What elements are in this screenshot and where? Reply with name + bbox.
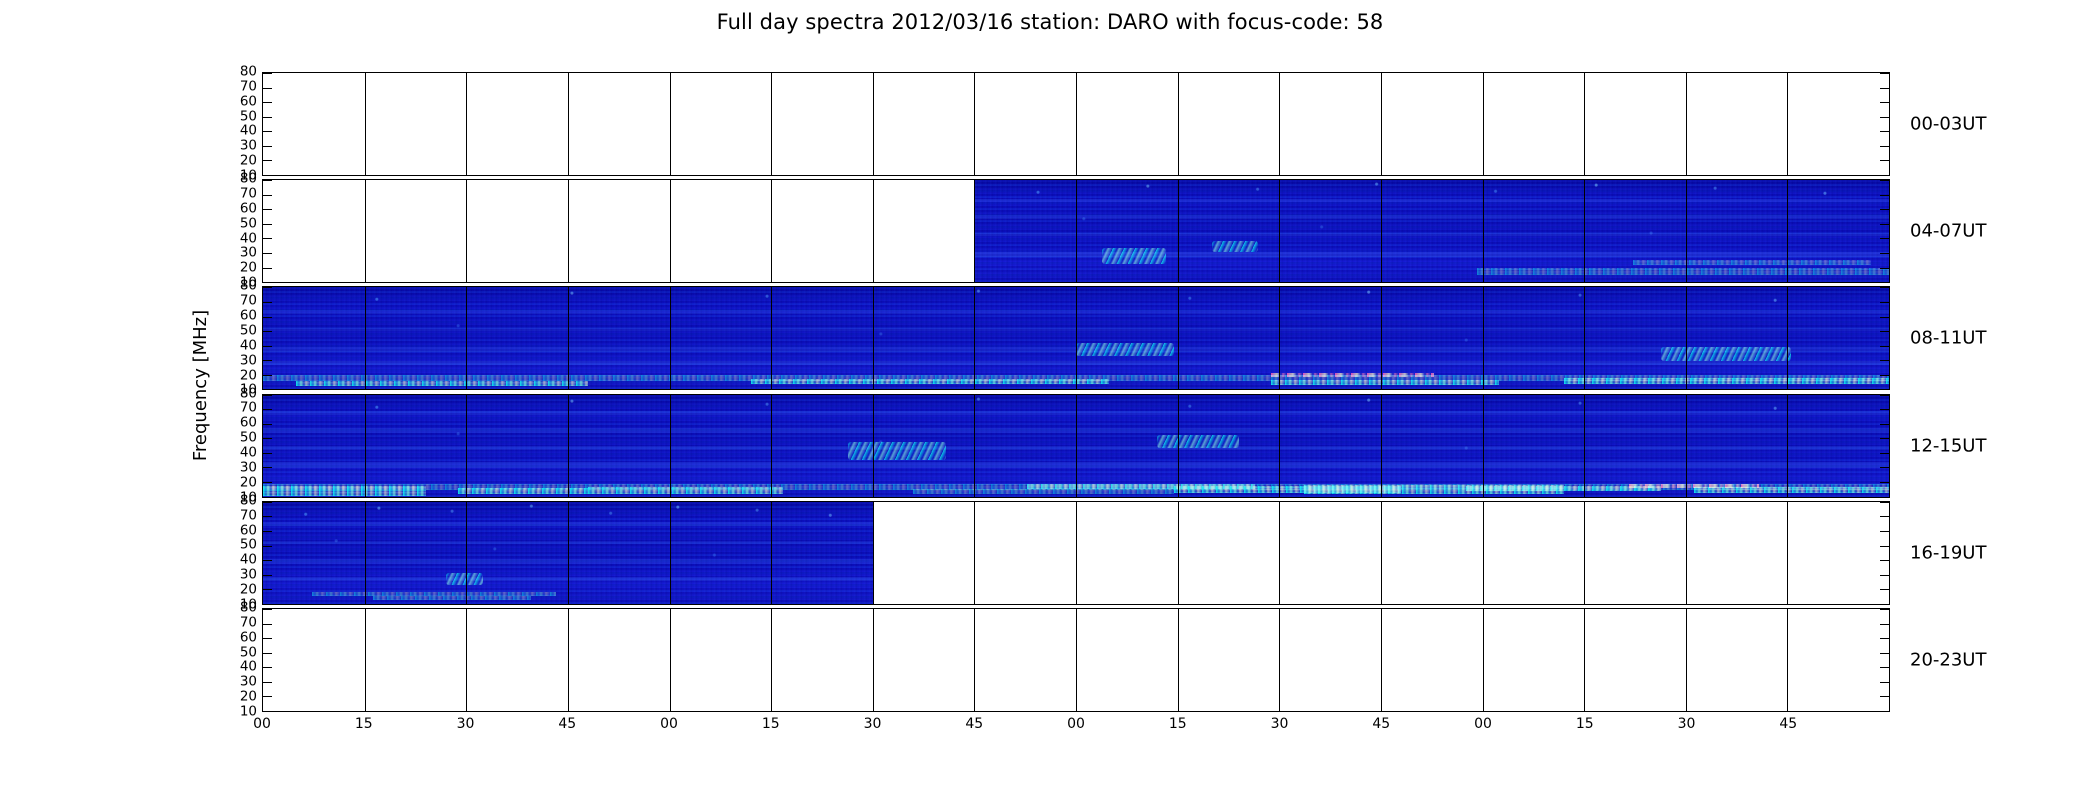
y-tick-label: 30 (240, 461, 257, 475)
x-tick-label: 30 (1678, 716, 1696, 732)
y-tick-label: 80 (240, 494, 257, 508)
y-tick-label: 40 (240, 553, 257, 567)
y-tick-labels: 8070605040302010 (262, 286, 1890, 390)
y-axis-title: Frequency [MHz] (188, 60, 214, 710)
y-tick-label: 40 (240, 125, 257, 139)
y-tick-label: 80 (240, 65, 257, 79)
y-tick-label: 70 (240, 509, 257, 523)
y-tick-label: 60 (240, 309, 257, 323)
y-tick-label: 40 (240, 232, 257, 246)
y-tick-label: 80 (240, 387, 257, 401)
y-tick-label: 60 (240, 631, 257, 645)
y-tick-label: 60 (240, 417, 257, 431)
y-tick-label: 40 (240, 339, 257, 353)
y-tick-labels: 8070605040302010 (262, 72, 1890, 176)
y-tick-label: 40 (240, 661, 257, 675)
panel-stack: 807060504030201000-03UT80706050403020100… (262, 72, 1890, 712)
y-tick-label: 30 (240, 568, 257, 582)
panel-time-label: 12-15UT (1910, 435, 1986, 456)
y-tick-label: 20 (240, 690, 257, 704)
x-tick-label: 00 (1474, 716, 1492, 732)
panel-time-label: 04-07UT (1910, 221, 1986, 242)
y-tick-label: 30 (240, 247, 257, 261)
y-tick-label: 20 (240, 476, 257, 490)
x-axis-labels: 00153045001530450015304500153045 (262, 716, 1890, 740)
y-tick-label: 30 (240, 676, 257, 690)
y-tick-label: 70 (240, 80, 257, 94)
y-axis-title-text: Frequency [MHz] (191, 309, 212, 460)
x-tick-label: 15 (1169, 716, 1187, 732)
y-tick-label: 40 (240, 446, 257, 460)
x-tick-label: 30 (864, 716, 882, 732)
y-tick-labels: 8070605040302010 (262, 501, 1890, 605)
y-tick-label: 50 (240, 217, 257, 231)
y-tick-label: 80 (240, 601, 257, 615)
y-tick-label: 50 (240, 324, 257, 338)
y-tick-labels: 8070605040302010 (262, 394, 1890, 498)
x-tick-label: 00 (253, 716, 271, 732)
spectrogram-figure: Full day spectra 2012/03/16 station: DAR… (0, 0, 2100, 800)
y-tick-label: 50 (240, 110, 257, 124)
x-tick-label: 15 (355, 716, 373, 732)
y-tick-label: 80 (240, 172, 257, 186)
x-tick-label: 45 (1372, 716, 1390, 732)
panel-time-label: 16-19UT (1910, 542, 1986, 563)
y-tick-labels: 8070605040302010 (262, 608, 1890, 712)
panel-time-label: 20-23UT (1910, 650, 1986, 671)
y-tick-label: 50 (240, 431, 257, 445)
y-tick-label: 60 (240, 524, 257, 538)
y-tick-label: 20 (240, 262, 257, 276)
y-tick-label: 50 (240, 646, 257, 660)
y-tick-label: 50 (240, 539, 257, 553)
y-tick-label: 30 (240, 140, 257, 154)
panel-time-label: 08-11UT (1910, 328, 1986, 349)
x-tick-label: 15 (762, 716, 780, 732)
x-tick-label: 30 (457, 716, 475, 732)
x-tick-label: 45 (558, 716, 576, 732)
y-tick-label: 30 (240, 354, 257, 368)
y-tick-label: 20 (240, 369, 257, 383)
y-tick-label: 70 (240, 187, 257, 201)
x-tick-label: 45 (1779, 716, 1797, 732)
y-tick-labels: 8070605040302010 (262, 179, 1890, 283)
x-tick-label: 30 (1271, 716, 1289, 732)
y-tick-label: 20 (240, 583, 257, 597)
y-tick-label: 70 (240, 616, 257, 630)
x-tick-label: 45 (965, 716, 983, 732)
panel-time-label: 00-03UT (1910, 114, 1986, 135)
x-tick-label: 15 (1576, 716, 1594, 732)
y-tick-label: 80 (240, 280, 257, 294)
y-tick-label: 20 (240, 154, 257, 168)
y-tick-label: 70 (240, 402, 257, 416)
x-tick-label: 00 (660, 716, 678, 732)
y-tick-label: 60 (240, 95, 257, 109)
y-tick-label: 70 (240, 294, 257, 308)
page-title: Full day spectra 2012/03/16 station: DAR… (0, 10, 2100, 34)
y-tick-label: 60 (240, 202, 257, 216)
x-tick-label: 00 (1067, 716, 1085, 732)
